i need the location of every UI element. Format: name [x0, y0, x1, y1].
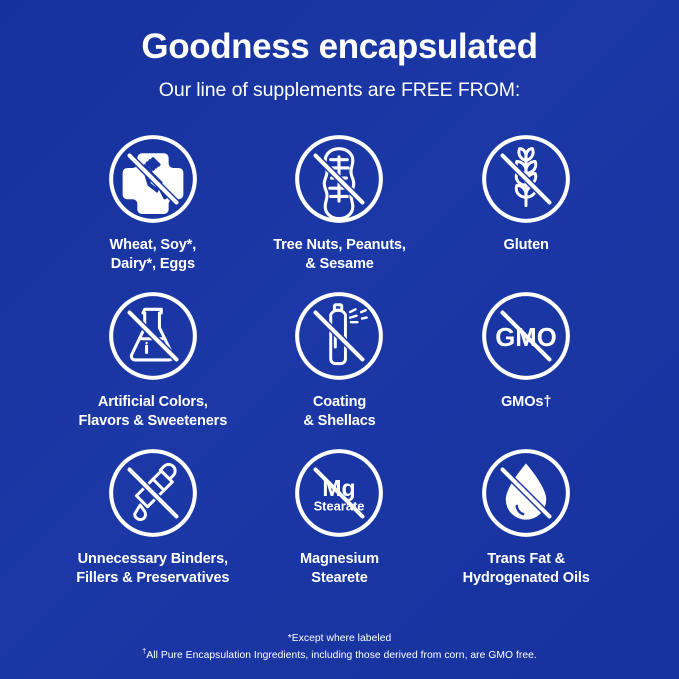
page-title: Goodness encapsulated	[141, 28, 537, 67]
free-from-item-label: Gluten	[504, 236, 549, 255]
no-gmo-icon: GMO	[480, 290, 572, 382]
free-from-item: GMO GMOs†	[433, 290, 620, 447]
free-from-item: Mg Stearate Magnesium Stearete	[246, 447, 433, 604]
free-from-item: Unnecessary Binders, Fillers & Preservat…	[60, 447, 247, 604]
free-from-item-label: Artificial Colors, Flavors & Sweeteners	[78, 393, 227, 432]
free-from-item: Gluten	[433, 133, 620, 290]
stearate-icon-subtext: Stearate	[314, 498, 365, 513]
free-from-item: Artificial Colors, Flavors & Sweeteners	[60, 290, 247, 447]
free-from-item: Trans Fat & Hydrogenated Oils	[433, 447, 620, 604]
free-from-item-label: Unnecessary Binders, Fillers & Preservat…	[76, 550, 229, 589]
no-wheat-stalk-icon	[480, 133, 572, 225]
mg-icon-text: Mg	[323, 474, 356, 500]
gmo-icon-text: GMO	[495, 324, 557, 352]
free-from-item-label: Magnesium Stearete	[300, 550, 379, 589]
no-dropper-icon	[107, 447, 199, 539]
no-oil-droplet-icon	[480, 447, 572, 539]
no-flask-icon	[107, 290, 199, 382]
infographic-page: Goodness encapsulated Our line of supple…	[0, 0, 679, 679]
no-peanut-icon	[293, 133, 385, 225]
free-from-grid: Wheat, Soy*, Dairy*, Eggs	[60, 133, 620, 604]
free-from-item: Tree Nuts, Peanuts, & Sesame	[246, 133, 433, 290]
no-allergens-cross-fork-icon	[107, 133, 199, 225]
footnote-asterisk: *Except where labeled	[0, 631, 679, 648]
free-from-item-label: Wheat, Soy*, Dairy*, Eggs	[110, 236, 197, 275]
footnote-dagger: †All Pure Encapsulation Ingredients, inc…	[0, 648, 679, 665]
page-subtitle: Our line of supplements are FREE FROM:	[159, 79, 520, 102]
no-magnesium-stearate-icon: Mg Stearate	[293, 447, 385, 539]
free-from-item: Wheat, Soy*, Dairy*, Eggs	[60, 133, 247, 290]
free-from-item: Coating & Shellacs	[246, 290, 433, 447]
free-from-item-label: Coating & Shellacs	[303, 393, 375, 432]
footnotes: *Except where labeled †All Pure Encapsul…	[0, 631, 679, 665]
no-spray-can-icon	[293, 290, 385, 382]
footnote-dagger-text: All Pure Encapsulation Ingredients, incl…	[146, 650, 537, 661]
free-from-item-label: Trans Fat & Hydrogenated Oils	[463, 550, 590, 589]
free-from-item-label: GMOs†	[501, 393, 551, 412]
free-from-item-label: Tree Nuts, Peanuts, & Sesame	[273, 236, 406, 275]
